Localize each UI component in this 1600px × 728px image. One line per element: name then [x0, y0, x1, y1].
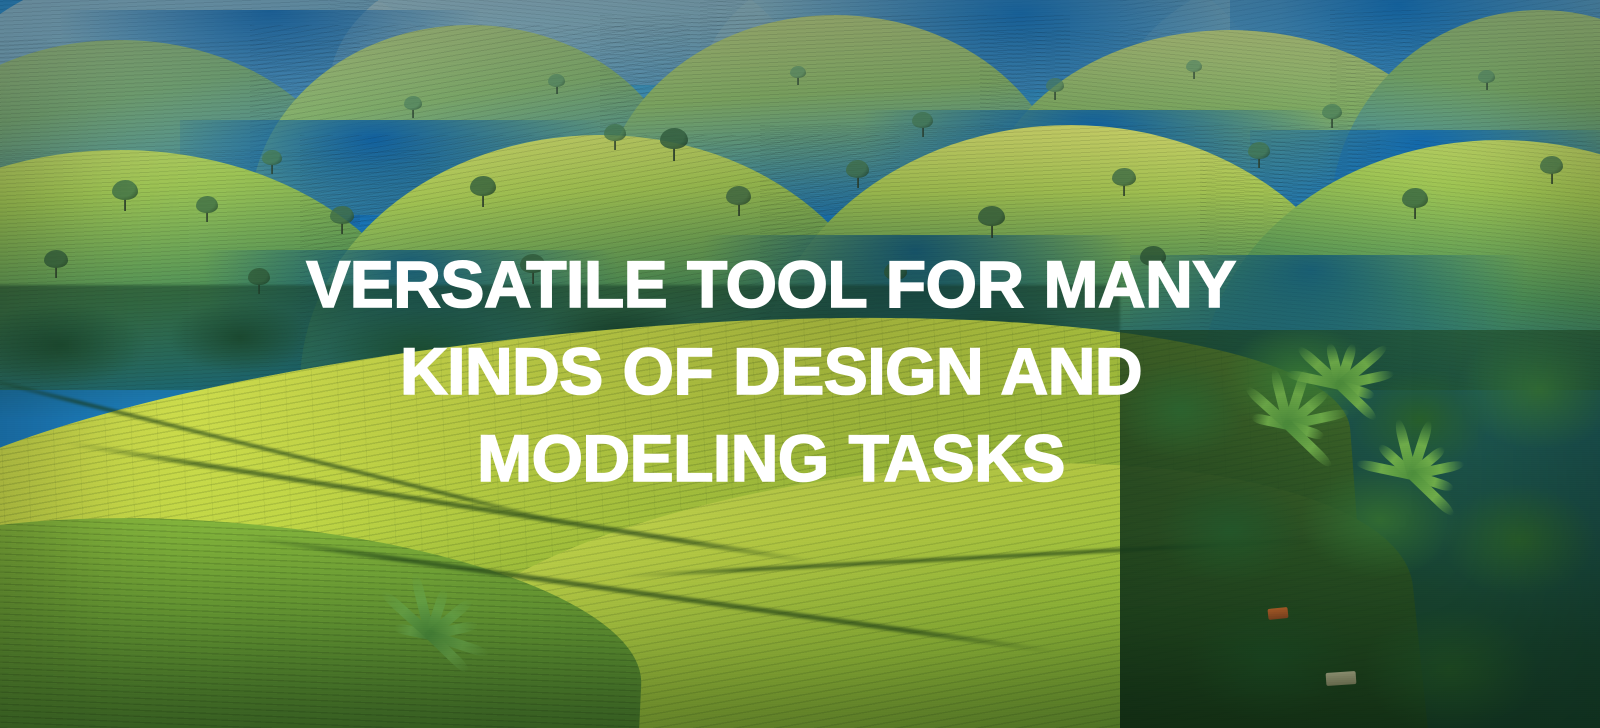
tree [846, 160, 869, 190]
tree [548, 74, 565, 96]
tree [196, 196, 218, 224]
tree [262, 150, 282, 175]
tree [1046, 78, 1064, 101]
tree [330, 206, 354, 236]
tree [1402, 188, 1428, 221]
tree [726, 186, 751, 218]
tree [470, 176, 496, 209]
hero-background-image [0, 0, 1600, 728]
tree [978, 206, 1005, 240]
tree [1478, 70, 1495, 92]
tree [1540, 156, 1563, 186]
tree [1248, 142, 1270, 170]
tree [790, 66, 806, 86]
building-structure [1326, 671, 1357, 686]
tree [1140, 246, 1166, 279]
tree [660, 128, 688, 163]
tree [1186, 60, 1202, 80]
hero-banner: VERSATILE TOOL FOR MANY KINDS OF DESIGN … [0, 0, 1600, 728]
tree [604, 124, 626, 152]
tree [112, 180, 138, 213]
tree [1112, 168, 1136, 198]
tree [912, 112, 933, 139]
tree [1322, 104, 1342, 129]
tree [404, 96, 422, 119]
tree [44, 250, 68, 280]
tree [520, 254, 545, 286]
orange-roof-structure [1267, 607, 1288, 620]
